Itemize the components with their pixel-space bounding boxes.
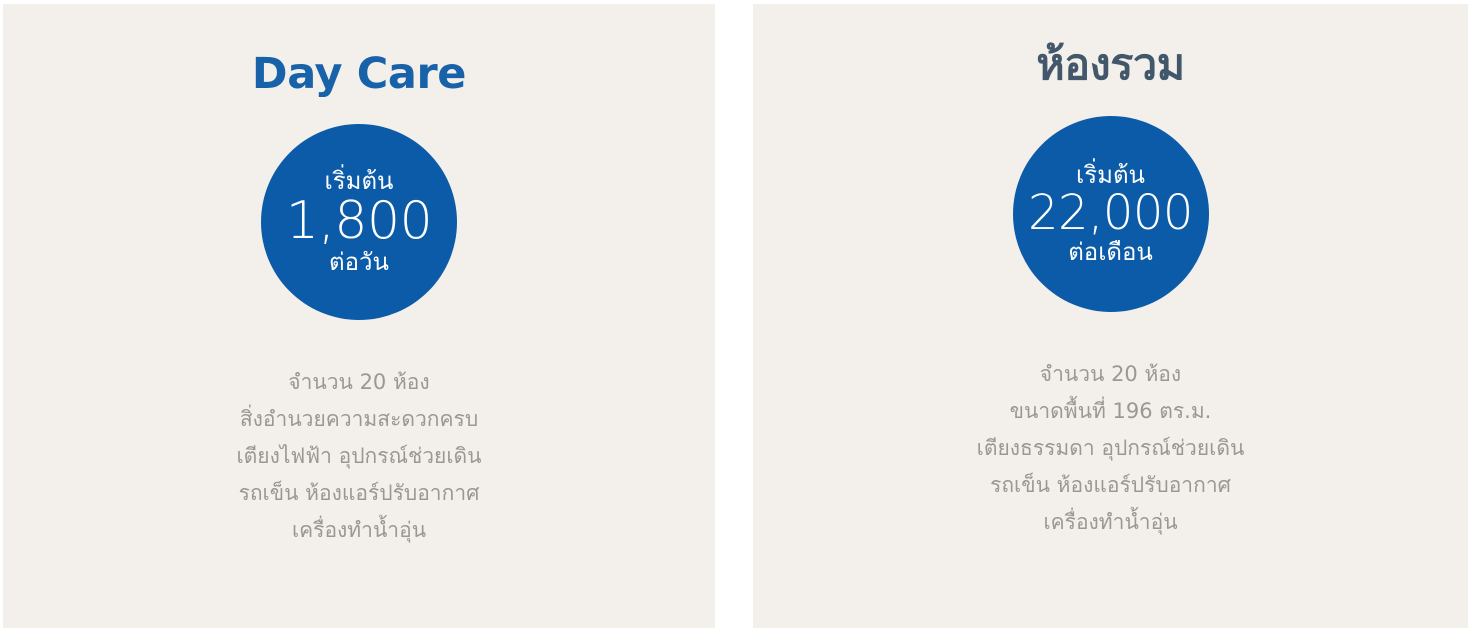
feature-item: ขนาดพื้นที่ 196 ตร.ม. — [753, 393, 1468, 430]
feature-item: รถเข็น ห้องแอร์ปรับอากาศ — [3, 475, 715, 512]
feature-item: เครื่องทำน้ำอุ่น — [753, 504, 1468, 541]
card-title: Day Care — [252, 51, 466, 98]
price-suffix: ต่อเดือน — [1068, 240, 1153, 265]
feature-item: เตียงไฟฟ้า อุปกรณ์ช่วยเดิน — [3, 438, 715, 475]
feature-item: จำนวน 20 ห้อง — [3, 364, 715, 401]
pricing-card-shared-room[interactable]: ห้องรวม เริ่มต้น 22,000 ต่อเดือน จำนวน 2… — [753, 4, 1468, 628]
price-badge: เริ่มต้น 1,800 ต่อวัน — [261, 124, 457, 320]
price-amount: 22,000 — [1028, 189, 1193, 238]
price-badge: เริ่มต้น 22,000 ต่อเดือน — [1013, 116, 1209, 312]
price-amount: 1,800 — [286, 195, 432, 248]
pricing-cards-board: Day Care เริ่มต้น 1,800 ต่อวัน จำนวน 20 … — [0, 0, 1468, 639]
feature-item: เครื่องทำน้ำอุ่น — [3, 512, 715, 549]
feature-item: จำนวน 20 ห้อง — [753, 356, 1468, 393]
feature-list: จำนวน 20 ห้อง ขนาดพื้นที่ 196 ตร.ม. เตีย… — [753, 356, 1468, 541]
card-title: ห้องรวม — [1036, 42, 1184, 89]
feature-item: สิ่งอำนวยความสะดวกครบ — [3, 401, 715, 438]
feature-item: เตียงธรรมดา อุปกรณ์ช่วยเดิน — [753, 430, 1468, 467]
price-suffix: ต่อวัน — [329, 250, 389, 275]
pricing-card-day-care[interactable]: Day Care เริ่มต้น 1,800 ต่อวัน จำนวน 20 … — [3, 4, 715, 628]
feature-list: จำนวน 20 ห้อง สิ่งอำนวยความสะดวกครบ เตีย… — [3, 364, 715, 549]
feature-item: รถเข็น ห้องแอร์ปรับอากาศ — [753, 467, 1468, 504]
